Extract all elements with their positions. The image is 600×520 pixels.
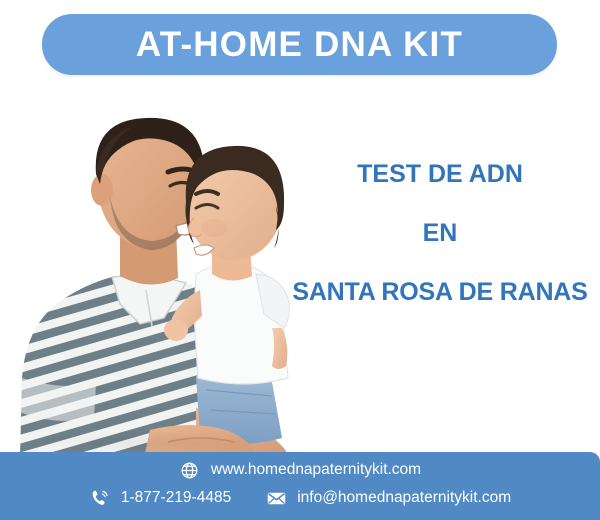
child-hand (164, 319, 188, 341)
footer-row-website: www.homednapaternitykit.com (0, 459, 600, 481)
website-label: www.homednapaternitykit.com (211, 461, 421, 479)
father-and-child-illustration (0, 78, 330, 458)
phone-ringing-icon (89, 487, 111, 509)
email-label: info@homednapaternitykit.com (297, 489, 511, 507)
contact-footer: www.homednapaternitykit.com 1-877-219-44… (0, 452, 600, 520)
header-banner: AT-HOME DNA KIT (42, 14, 557, 75)
phone-label: 1-877-219-4485 (121, 489, 231, 507)
headline-line-1: TEST DE ADN (290, 160, 590, 189)
poster-canvas: AT-HOME DNA KIT (0, 0, 600, 520)
page-title: AT-HOME DNA KIT (136, 25, 463, 65)
headline-line-2: EN (290, 219, 590, 248)
globe-icon (179, 459, 201, 481)
headline-line-3: SANTA ROSA DE RANAS (290, 278, 590, 307)
website-link[interactable]: www.homednapaternitykit.com (179, 459, 421, 481)
envelope-icon (265, 487, 287, 509)
hero-photo (0, 78, 330, 458)
phone-link[interactable]: 1-877-219-4485 (89, 487, 231, 509)
email-link[interactable]: info@homednapaternitykit.com (265, 487, 511, 509)
headline-block: TEST DE ADN EN SANTA ROSA DE RANAS (290, 160, 590, 306)
footer-row-phone-email: 1-877-219-4485 info@homednapaternitykit.… (0, 487, 600, 509)
